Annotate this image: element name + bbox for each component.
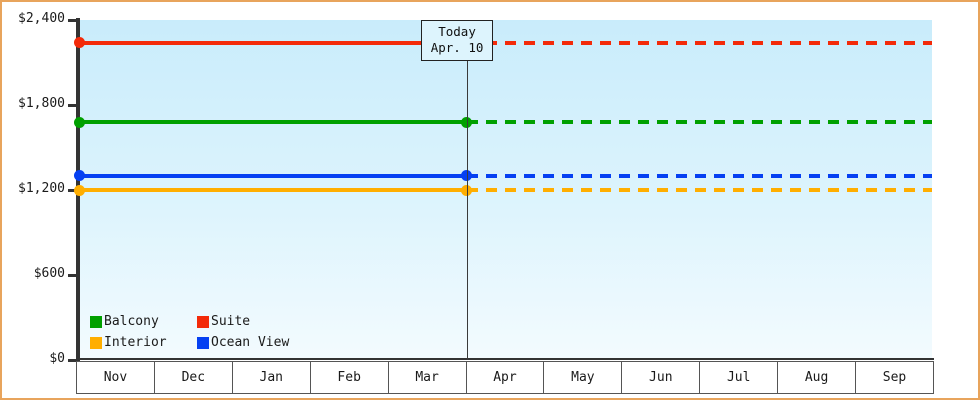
- tick-mark: [68, 274, 76, 277]
- y-axis-tick-label: $2,400: [18, 11, 65, 26]
- legend-item-ocean-view[interactable]: Ocean View: [197, 335, 307, 350]
- y-axis-tick: $600: [2, 275, 76, 276]
- x-axis-month-strip: NovDecJanFebMarAprMayJunJulAugSep: [76, 361, 934, 394]
- y-axis-tick-label: $1,800: [18, 96, 65, 111]
- series-data-point[interactable]: [74, 117, 85, 128]
- x-axis-month-cell[interactable]: Apr: [467, 362, 545, 393]
- tick-mark: [68, 104, 76, 107]
- today-annotation-date: Apr. 10: [431, 40, 484, 56]
- today-annotation-label: Today: [431, 24, 484, 40]
- series-line-actual: [79, 120, 467, 124]
- x-axis-month-cell[interactable]: Jun: [622, 362, 700, 393]
- y-axis-tick: $1,800: [2, 105, 76, 106]
- series-data-point[interactable]: [74, 170, 85, 181]
- tick-mark: [68, 359, 76, 362]
- series-line-actual: [79, 41, 467, 45]
- legend-swatch-icon: [90, 337, 102, 349]
- legend-label: Interior: [104, 335, 167, 350]
- legend-swatch-icon: [197, 337, 209, 349]
- legend-item-balcony[interactable]: Balcony: [90, 314, 185, 329]
- series-line-forecast: [467, 188, 932, 192]
- legend-label: Ocean View: [211, 335, 289, 350]
- series-line-actual: [79, 174, 467, 178]
- x-axis-month-cell[interactable]: Nov: [76, 362, 155, 393]
- x-axis-month-cell[interactable]: Aug: [778, 362, 856, 393]
- x-axis-month-cell[interactable]: Sep: [856, 362, 934, 393]
- x-axis-month-cell[interactable]: Jul: [700, 362, 778, 393]
- price-trend-chart: $0$600$1,200$1,800$2,400 Today Apr. 10 B…: [0, 0, 980, 400]
- legend-label: Suite: [211, 314, 250, 329]
- x-axis-spine: [76, 358, 934, 360]
- legend-row: Interior Ocean View: [90, 332, 307, 353]
- x-axis-month-cell[interactable]: Jan: [233, 362, 311, 393]
- y-axis-tick-label: $600: [34, 266, 65, 281]
- legend-item-interior[interactable]: Interior: [90, 335, 185, 350]
- x-axis-month-cell[interactable]: Mar: [389, 362, 467, 393]
- y-axis-tick: $1,200: [2, 190, 76, 191]
- legend-swatch-icon: [197, 316, 209, 328]
- legend-swatch-icon: [90, 316, 102, 328]
- x-axis-month-cell[interactable]: Feb: [311, 362, 389, 393]
- series-data-point[interactable]: [74, 37, 85, 48]
- y-axis-tick-label: $1,200: [18, 181, 65, 196]
- y-axis-tick: $0: [2, 360, 76, 361]
- x-axis-month-cell[interactable]: Dec: [155, 362, 233, 393]
- series-line-forecast: [467, 174, 932, 178]
- today-annotation-box: Today Apr. 10: [421, 20, 494, 61]
- legend-item-suite[interactable]: Suite: [197, 314, 307, 329]
- series-line-actual: [79, 188, 467, 192]
- legend-row: Balcony Suite: [90, 311, 307, 332]
- y-axis-tick: $2,400: [2, 20, 76, 21]
- series-line-forecast: [467, 41, 932, 45]
- today-vertical-line: [467, 20, 468, 360]
- x-axis-month-cell[interactable]: May: [544, 362, 622, 393]
- chart-legend: Balcony Suite Interior Ocean View: [90, 311, 307, 353]
- legend-label: Balcony: [104, 314, 159, 329]
- y-axis-tick-label: $0: [49, 351, 65, 366]
- series-data-point[interactable]: [74, 185, 85, 196]
- series-line-forecast: [467, 120, 932, 124]
- tick-mark: [68, 19, 76, 22]
